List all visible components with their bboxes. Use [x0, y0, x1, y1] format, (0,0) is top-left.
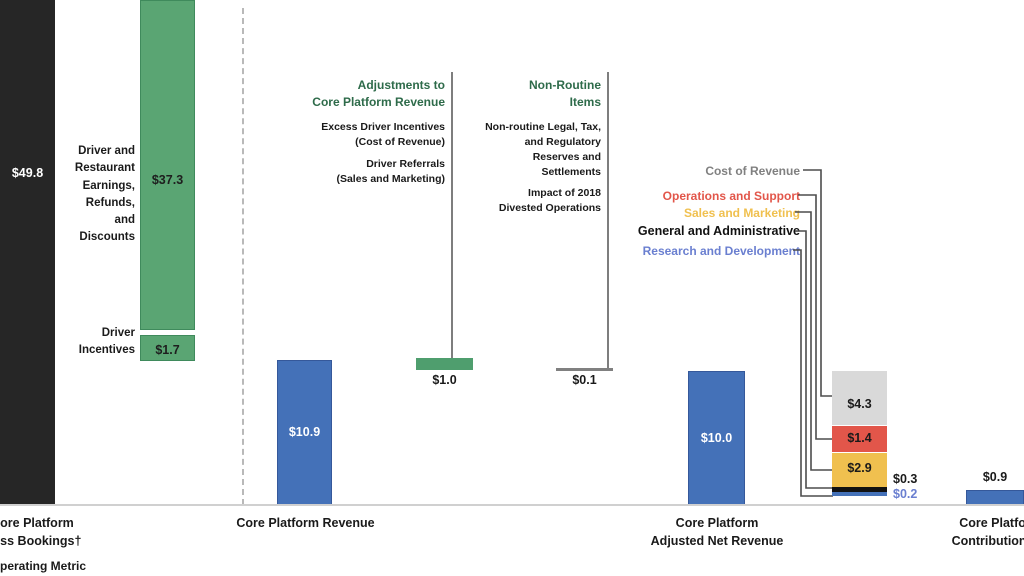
waterfall-chart: $49.8 $37.3 $1.7 Driver and Restaurant E…: [0, 0, 1024, 576]
side-label-line: Refunds,: [0, 195, 135, 212]
bar-label-general-administrative: $0.3: [893, 472, 935, 486]
axis-label-line: oss Bookings†: [0, 532, 102, 550]
group-item-main: Non-routine Legal, Tax,: [420, 120, 601, 135]
bar-research-development[interactable]: [832, 492, 887, 496]
side-label-line: Driver and: [0, 143, 135, 160]
axis-label-adjusted-net-revenue: Core Platform Contribution P Adjusted Ne…: [637, 514, 797, 550]
bar-driver-restaurant[interactable]: [140, 0, 195, 330]
connector-general-administrative: [795, 231, 833, 488]
bar-gross-bookings[interactable]: [0, 0, 55, 505]
bar-label-adjustments: $1.0: [416, 373, 473, 387]
bar-label-driver-restaurant: $37.3: [140, 173, 195, 187]
bar-label-core-platform-revenue: $10.9: [277, 425, 332, 439]
connector-research-development: [793, 250, 833, 496]
bar-label-operations-support: $1.4: [832, 431, 887, 445]
side-label-driver-incentives: Driver Incentives: [0, 325, 135, 360]
bar-label-cost-of-revenue: $4.3: [832, 397, 887, 411]
legend-item-operations-support[interactable]: Operations and Support: [560, 189, 800, 203]
group-heading-line: Adjustments to: [240, 77, 445, 94]
group-label-adjustments: Adjustments to Core Platform Revenue Exc…: [240, 77, 445, 186]
bar-label-non-routine: $0.1: [556, 373, 613, 387]
bar-adjustments[interactable]: [416, 358, 473, 370]
group-item-sub: (Cost of Revenue): [240, 135, 445, 150]
side-label-line: Restaurant: [0, 160, 135, 177]
axis-label-core-platform-revenue: Core Platform Revenue: [228, 514, 383, 532]
axis-label-line: Core Platform: [637, 514, 797, 532]
axis-label-line-2: Adjusted Net Revenue: [637, 532, 797, 550]
group-heading-line: Items: [420, 94, 601, 111]
axis-label-contribution-profit: Core Platfor Contribution P: [930, 514, 1024, 550]
axis-label-line: Contribution P: [930, 532, 1024, 550]
bar-non-routine[interactable]: [556, 368, 613, 371]
group-item-main: and Regulatory: [420, 135, 601, 150]
legend-item-research-development[interactable]: Research and Development: [550, 244, 800, 258]
side-label-line: Discounts: [0, 229, 135, 246]
connector-cost-of-revenue: [803, 170, 833, 396]
bar-contribution-profit[interactable]: [966, 490, 1024, 505]
group-heading-line: Non-Routine: [420, 77, 601, 94]
side-label-line: and: [0, 212, 135, 229]
side-label-line: Incentives: [0, 342, 135, 359]
axis-label-line: Core Platfor: [930, 514, 1024, 532]
legend-item-sales-marketing[interactable]: Sales and Marketing: [560, 206, 800, 220]
bar-label-contribution-profit: $0.9: [966, 470, 1024, 484]
legend-item-cost-of-revenue[interactable]: Cost of Revenue: [560, 164, 800, 178]
group-heading-line: Core Platform Revenue: [240, 94, 445, 111]
bar-label-adjusted-net-revenue: $10.0: [688, 431, 745, 445]
baseline-axis: [0, 504, 1024, 506]
bar-label-research-development: $0.2: [893, 487, 935, 501]
side-label-line: Earnings,: [0, 178, 135, 195]
bar-label-sales-marketing: $2.9: [832, 461, 887, 475]
group-bracket-non-routine: [607, 72, 609, 368]
side-label-line: Driver: [0, 325, 135, 342]
group-item-main: Driver Referrals: [240, 157, 445, 172]
axis-label-gross-bookings: ore Platform oss Bookings†: [0, 514, 102, 550]
side-label-driver-restaurant: Driver and Restaurant Earnings, Refunds,…: [0, 143, 135, 247]
connector-sales-marketing: [795, 212, 833, 470]
footnote-operating-metric: perating Metric: [0, 559, 86, 573]
group-item-main: Reserves and: [420, 150, 601, 165]
connector-operations-support: [798, 195, 833, 439]
legend-item-general-administrative[interactable]: General and Administrative: [550, 224, 800, 238]
axis-label-line: ore Platform: [0, 514, 102, 532]
bar-label-driver-incentives: $1.7: [140, 343, 195, 357]
group-item-sub: (Sales and Marketing): [240, 172, 445, 187]
axis-label-line: Core Platform Revenue: [228, 514, 383, 532]
group-item-main: Excess Driver Incentives: [240, 120, 445, 135]
